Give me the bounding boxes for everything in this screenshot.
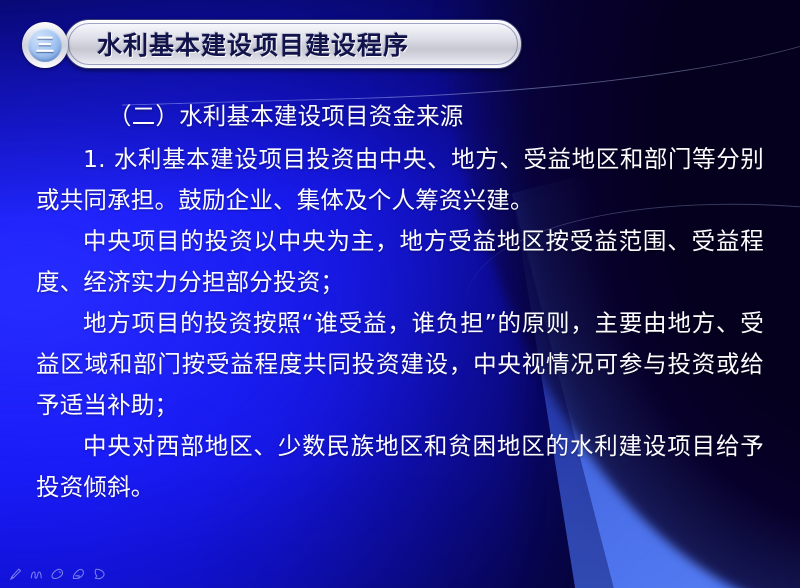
pen-icon[interactable]	[8, 567, 23, 582]
eraser-icon[interactable]	[71, 567, 86, 582]
section-number-badge: 三	[22, 22, 68, 68]
slide-title: 水利基本建设项目建设程序	[97, 26, 409, 62]
content-paragraph-2: 中央项目的投资以中央为主，地方受益地区按受益范围、受益程度、经济实力分担部分投资…	[36, 221, 764, 303]
slide-body: （二）水利基本建设项目资金来源 1. 水利基本建设项目投资由中央、地方、受益地区…	[36, 96, 764, 508]
scribble-icon[interactable]	[29, 567, 44, 582]
section-number-label: 三	[28, 28, 62, 62]
highlighter-icon[interactable]	[50, 567, 65, 582]
slide-title-bar: 水利基本建设项目建设程序 三	[22, 19, 522, 69]
content-paragraph-3: 地方项目的投资按照“谁受益，谁负担”的原则，主要由地方、受益区域和部门按受益程度…	[36, 303, 764, 426]
content-paragraph-4: 中央对西部地区、少数民族地区和贫困地区的水利建设项目给予投资倾斜。	[36, 426, 764, 508]
pointer-icon[interactable]	[92, 567, 107, 582]
presentation-slide: 水利基本建设项目建设程序 三 （二）水利基本建设项目资金来源 1. 水利基本建设…	[0, 0, 800, 588]
annotation-toolbar[interactable]	[8, 567, 107, 582]
title-pill: 水利基本建设项目建设程序	[64, 19, 522, 69]
content-heading: （二）水利基本建设项目资金来源	[36, 96, 764, 137]
content-paragraph-1: 1. 水利基本建设项目投资由中央、地方、受益地区和部门等分别或共同承担。鼓励企业…	[36, 139, 764, 221]
